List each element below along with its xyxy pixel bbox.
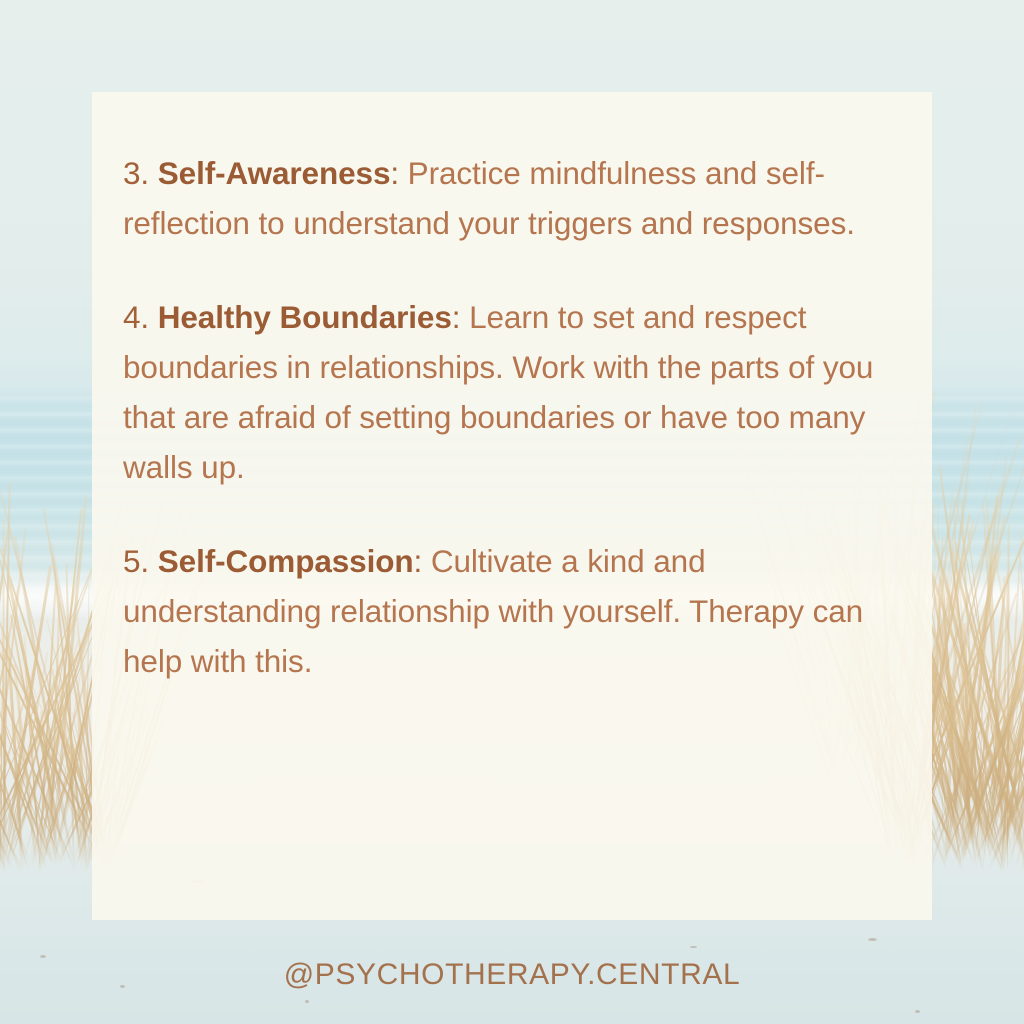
list-item-number: 4. — [123, 299, 149, 335]
sand-speck — [305, 1000, 309, 1003]
content-card: 3. Self-Awareness: Practice mindfulness … — [92, 92, 932, 920]
list-item-3: 3. Self-Awareness: Practice mindfulness … — [123, 148, 886, 248]
list-item-colon: : — [414, 543, 423, 579]
list-item-5: 5. Self-Compassion: Cultivate a kind and… — [123, 536, 886, 686]
sand-speck — [868, 938, 877, 941]
list-item-colon: : — [390, 155, 399, 191]
sand-speck — [915, 1010, 920, 1013]
list-item-term: Healthy Boundaries — [158, 299, 452, 335]
list-item-term: Self-Compassion — [158, 543, 414, 579]
content-card-body: 3. Self-Awareness: Practice mindfulness … — [123, 148, 886, 686]
list-item-number: 5. — [123, 543, 149, 579]
list-item-term: Self-Awareness — [158, 155, 391, 191]
list-item-number: 3. — [123, 155, 149, 191]
list-item-4: 4. Healthy Boundaries: Learn to set and … — [123, 292, 886, 492]
account-handle: @PSYCHOTHERAPY.CENTRAL — [0, 958, 1024, 992]
sand-speck — [690, 946, 697, 948]
poster: 3. Self-Awareness: Practice mindfulness … — [0, 0, 1024, 1024]
